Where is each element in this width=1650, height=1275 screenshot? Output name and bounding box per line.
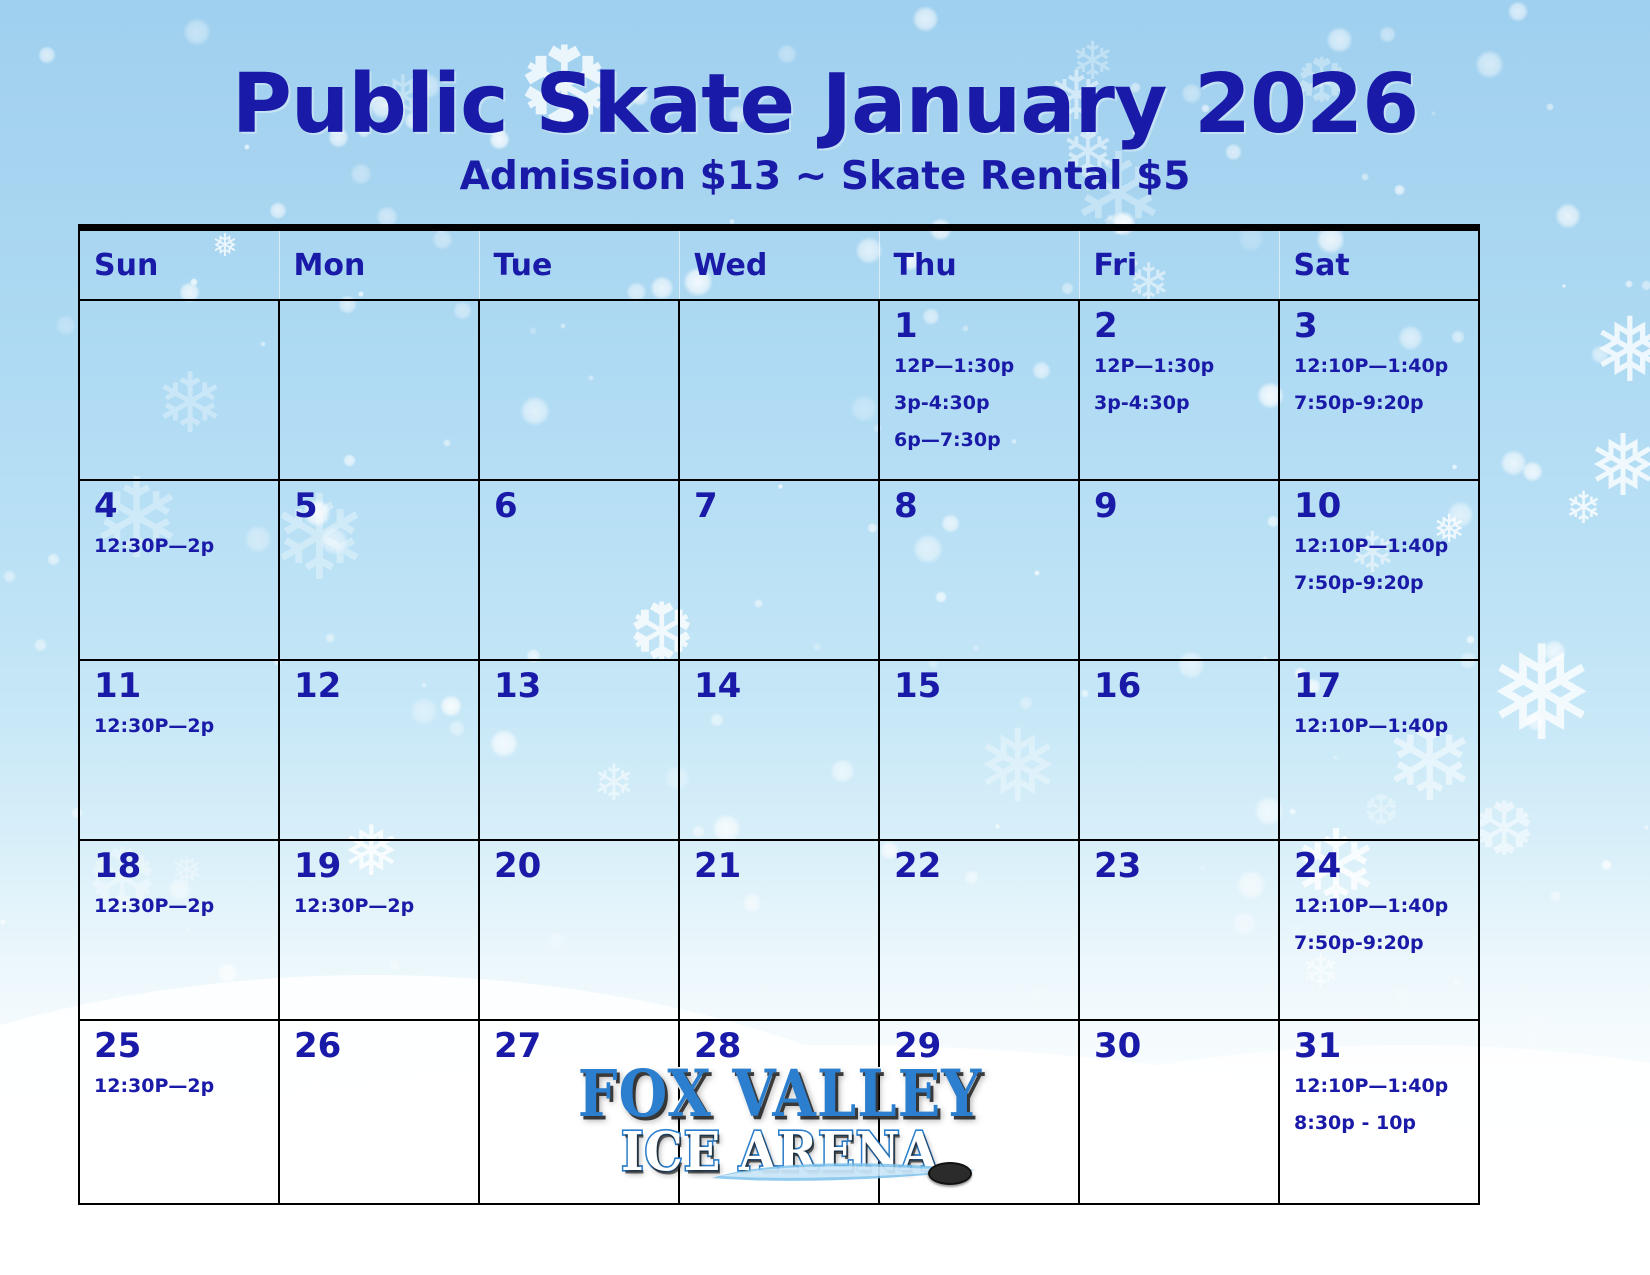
snow-dot	[1240, 1248, 1268, 1275]
snow-dot	[289, 1235, 319, 1265]
day-cell-31[interactable]: 3112:10P—1:40p8:30p - 10p	[1279, 1020, 1479, 1204]
snow-dot	[1641, 280, 1650, 291]
snow-dot	[1317, 1236, 1332, 1251]
snow-dot	[269, 202, 286, 219]
session-time-list: 12:30P—2p	[294, 897, 468, 916]
session-time: 7:50p-9:20p	[1294, 934, 1468, 953]
snow-dot	[1644, 825, 1649, 830]
day-cell-11[interactable]: 1112:30P—2p	[79, 660, 279, 840]
day-number: 17	[1294, 669, 1468, 703]
session-time-list: 12:10P—1:40p7:50p-9:20p	[1294, 897, 1468, 953]
snowflake-icon: ❅	[1592, 307, 1650, 397]
admission-subtitle: Admission $13 ~ Skate Rental $5	[0, 154, 1650, 199]
day-number: 2	[1094, 309, 1268, 343]
snow-dot	[389, 1226, 398, 1235]
day-cell-4[interactable]: 412:30P—2p	[79, 480, 279, 660]
snow-dot	[733, 1248, 738, 1253]
session-time: 7:50p-9:20p	[1294, 574, 1468, 593]
snow-dot	[1279, 1242, 1303, 1266]
snow-dot	[242, 1250, 249, 1257]
day-number: 3	[1294, 309, 1468, 343]
snow-dot	[1522, 461, 1543, 482]
day-number: 30	[1094, 1029, 1268, 1063]
session-time-list: 12:10P—1:40p7:50p-9:20p	[1294, 357, 1468, 413]
snow-dot	[583, 1222, 598, 1237]
snow-dot	[1182, 1212, 1211, 1241]
snow-dot	[1464, 1260, 1474, 1270]
snow-dot	[1625, 280, 1633, 288]
snow-dot	[1119, 1249, 1124, 1254]
day-number: 4	[94, 489, 268, 523]
calendar-header-row: SunMonTueWedThuFriSat	[79, 228, 1479, 301]
snow-dot	[1601, 859, 1613, 871]
session-time: 3p-4:30p	[894, 394, 1068, 413]
day-cell-28[interactable]: 28	[679, 1020, 879, 1204]
day-cell-8[interactable]: 8	[879, 480, 1079, 660]
snow-dot	[1591, 345, 1610, 364]
day-number: 23	[1094, 849, 1268, 883]
day-number: 10	[1294, 489, 1468, 523]
day-cell-empty	[79, 300, 279, 480]
session-time: 12:10P—1:40p	[1294, 717, 1468, 736]
session-time-list: 12:30P—2p	[94, 537, 268, 556]
day-number: 16	[1094, 669, 1268, 703]
session-time: 12:10P—1:40p	[1294, 537, 1468, 556]
day-cell-19[interactable]: 1912:30P—2p	[279, 840, 479, 1020]
month-calendar: SunMonTueWedThuFriSat 112P—1:30p3p-4:30p…	[78, 224, 1480, 1205]
session-time: 12:10P—1:40p	[1294, 897, 1468, 916]
session-time: 12:30P—2p	[94, 1077, 268, 1096]
snow-dot	[1555, 203, 1581, 229]
session-time: 12:10P—1:40p	[1294, 357, 1468, 376]
day-number: 1	[894, 309, 1068, 343]
day-cell-21[interactable]: 21	[679, 840, 879, 1020]
session-time-list: 12:30P—2p	[94, 717, 268, 736]
session-time-list: 12P—1:30p3p-4:30p6p—7:30p	[894, 357, 1068, 450]
day-number: 5	[294, 489, 468, 523]
day-cell-15[interactable]: 15	[879, 660, 1079, 840]
session-time: 12:10P—1:40p	[1294, 1077, 1468, 1096]
day-cell-18[interactable]: 1812:30P—2p	[79, 840, 279, 1020]
snowflake-icon: ❅	[1487, 628, 1597, 759]
day-cell-17[interactable]: 1712:10P—1:40p	[1279, 660, 1479, 840]
calendar-header: Public Skate January 2026 Admission $13 …	[0, 0, 1650, 199]
page-title: Public Skate January 2026	[0, 62, 1650, 148]
snow-dot	[1269, 1234, 1276, 1241]
snow-dot	[1550, 890, 1561, 901]
day-cell-empty	[279, 300, 479, 480]
snowflake-icon: ❅	[1505, 1124, 1532, 1156]
session-time: 8:30p - 10p	[1294, 1114, 1468, 1133]
day-number: 11	[94, 669, 268, 703]
session-time-list: 12:10P—1:40p	[1294, 717, 1468, 736]
snow-dot	[6, 1131, 28, 1153]
snow-dot	[1543, 640, 1566, 663]
calendar-week-row: 1112:30P—2p12131415161712:10P—1:40p	[79, 660, 1479, 840]
session-time: 3p-4:30p	[1094, 394, 1268, 413]
day-number: 27	[494, 1029, 668, 1063]
day-number: 31	[1294, 1029, 1468, 1063]
snow-dot	[3, 1214, 10, 1221]
day-number: 24	[1294, 849, 1468, 883]
day-cell-empty	[679, 300, 879, 480]
snow-dot	[56, 315, 76, 335]
day-cell-29[interactable]: 29	[879, 1020, 1079, 1204]
session-time-list: 12:30P—2p	[94, 897, 268, 916]
day-cell-16[interactable]: 16	[1079, 660, 1279, 840]
calendar-week-row: 1812:30P—2p1912:30P—2p202122232412:10P—1…	[79, 840, 1479, 1020]
day-number: 22	[894, 849, 1068, 883]
day-number: 21	[694, 849, 868, 883]
snow-dot	[1449, 1222, 1473, 1246]
day-number: 7	[694, 489, 868, 523]
snow-dot	[1519, 1014, 1549, 1044]
day-number: 25	[94, 1029, 268, 1063]
session-time: 12:30P—2p	[94, 537, 268, 556]
day-number: 18	[94, 849, 268, 883]
session-time-list: 12:10P—1:40p8:30p - 10p	[1294, 1077, 1468, 1133]
day-cell-27[interactable]: 27	[479, 1020, 679, 1204]
day-cell-empty	[479, 300, 679, 480]
day-number: 14	[694, 669, 868, 703]
day-number: 13	[494, 669, 668, 703]
day-cell-20[interactable]: 20	[479, 840, 679, 1020]
session-time: 7:50p-9:20p	[1294, 394, 1468, 413]
day-cell-25[interactable]: 2512:30P—2p	[79, 1020, 279, 1204]
snow-dot	[1107, 214, 1114, 221]
day-cell-14[interactable]: 14	[679, 660, 879, 840]
snow-dot	[1533, 1121, 1541, 1129]
day-number: 6	[494, 489, 668, 523]
day-number: 8	[894, 489, 1068, 523]
day-number: 20	[494, 849, 668, 883]
day-number: 9	[1094, 489, 1268, 523]
weekday-header-fri: Fri	[1079, 228, 1279, 301]
day-number: 28	[694, 1029, 868, 1063]
day-number: 29	[894, 1029, 1068, 1063]
calendar-week-row: 112P—1:30p3p-4:30p6p—7:30p212P—1:30p3p-4…	[79, 300, 1479, 480]
snow-dot	[0, 919, 6, 925]
day-cell-6[interactable]: 6	[479, 480, 679, 660]
day-cell-9[interactable]: 9	[1079, 480, 1279, 660]
snow-dot	[1501, 1179, 1529, 1207]
snowflake-icon: ❆	[1473, 793, 1536, 868]
session-time: 12P—1:30p	[894, 357, 1068, 376]
snow-dot	[1526, 713, 1544, 731]
calendar-week-row: 412:30P—2p567891012:10P—1:40p7:50p-9:20p	[79, 480, 1479, 660]
session-time: 12:30P—2p	[94, 717, 268, 736]
day-number: 19	[294, 849, 468, 883]
day-cell-3[interactable]: 312:10P—1:40p7:50p-9:20p	[1279, 300, 1479, 480]
day-number: 12	[294, 669, 468, 703]
session-time: 12P—1:30p	[1094, 357, 1268, 376]
snow-dot	[47, 553, 60, 566]
day-cell-7[interactable]: 7	[679, 480, 879, 660]
day-cell-23[interactable]: 23	[1079, 840, 1279, 1020]
day-cell-22[interactable]: 22	[879, 840, 1079, 1020]
calendar-week-row: 2512:30P—2p26272829303112:10P—1:40p8:30p…	[79, 1020, 1479, 1204]
day-cell-26[interactable]: 26	[279, 1020, 479, 1204]
snow-dot	[1562, 284, 1567, 289]
day-cell-13[interactable]: 13	[479, 660, 679, 840]
day-number: 26	[294, 1029, 468, 1063]
snow-dot	[79, 1203, 104, 1228]
session-time: 12:30P—2p	[94, 897, 268, 916]
weekday-header-tue: Tue	[479, 228, 679, 301]
session-time: 12:30P—2p	[294, 897, 468, 916]
snow-dot	[1500, 450, 1526, 476]
day-cell-5[interactable]: 5	[279, 480, 479, 660]
session-time: 6p—7:30p	[894, 431, 1068, 450]
session-time-list: 12:10P—1:40p7:50p-9:20p	[1294, 537, 1468, 593]
day-cell-10[interactable]: 1012:10P—1:40p7:50p-9:20p	[1279, 480, 1479, 660]
weekday-header-mon: Mon	[279, 228, 479, 301]
session-time-list: 12:30P—2p	[94, 1077, 268, 1096]
day-cell-1[interactable]: 112P—1:30p3p-4:30p6p—7:30p	[879, 300, 1079, 480]
weekday-header-wed: Wed	[679, 228, 879, 301]
snow-dot	[462, 1263, 490, 1275]
session-time-list: 12P—1:30p3p-4:30p	[1094, 357, 1268, 413]
snow-dot	[178, 1240, 184, 1246]
weekday-header-thu: Thu	[879, 228, 1079, 301]
weekday-header-sat: Sat	[1279, 228, 1479, 301]
weekday-header-sun: Sun	[79, 228, 279, 301]
snow-dot	[913, 1225, 933, 1245]
snowflake-icon: ❅	[1588, 424, 1650, 509]
day-cell-30[interactable]: 30	[1079, 1020, 1279, 1204]
calendar-body: 112P—1:30p3p-4:30p6p—7:30p212P—1:30p3p-4…	[79, 300, 1479, 1204]
day-cell-24[interactable]: 2412:10P—1:40p7:50p-9:20p	[1279, 840, 1479, 1020]
day-number: 15	[894, 669, 1068, 703]
snowflake-icon: ❄	[1565, 486, 1602, 531]
day-cell-2[interactable]: 212P—1:30p3p-4:30p	[1079, 300, 1279, 480]
day-cell-12[interactable]: 12	[279, 660, 479, 840]
snow-dot	[34, 638, 48, 652]
snow-dot	[3, 570, 16, 583]
